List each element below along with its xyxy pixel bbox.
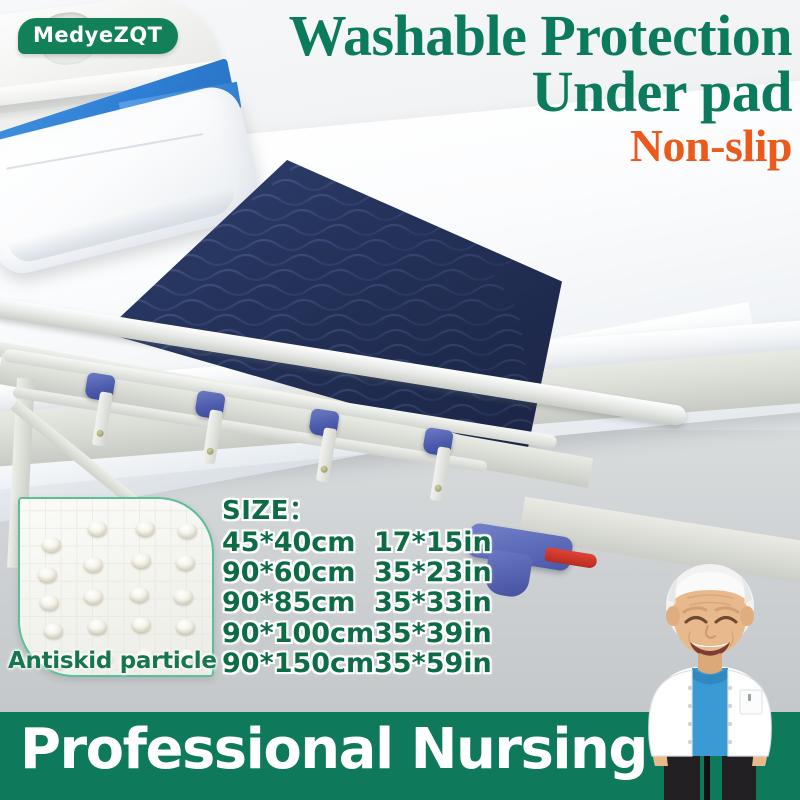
headline-block: Washable Protection Under pad Non-slip [192,8,792,170]
size-row: 90*150cm 35*59in [222,649,494,679]
size-in: 17*15in [374,528,494,558]
size-cm: 90*60cm [222,558,374,588]
product-poster: MedyeZQT Washable Protection Under pad N… [0,0,800,800]
size-row: 90*85cm 35*33in [222,588,494,618]
antiskid-particle-label: Antiskid particle [8,648,218,674]
size-cm: 45*40cm [222,528,374,558]
size-cm: 90*150cm [222,649,374,679]
brand-logo[interactable]: MedyeZQT [18,18,178,54]
size-list: SIZE： 45*40cm 17*15in 90*60cm 35*23in 90… [222,490,494,679]
size-row: 45*40cm 17*15in [222,528,494,558]
size-cm: 90*100cm [222,619,374,649]
size-in: 35*33in [374,588,494,618]
size-list-title: SIZE： [222,490,494,527]
size-in: 35*23in [374,558,494,588]
elderly-man-illustration [612,548,800,800]
headline-line-3-nonslip: Non-slip [192,121,792,171]
bottom-banner-text: Professional Nursing [20,716,647,783]
size-cm: 90*85cm [222,588,374,618]
size-row: 90*100cm 35*39in [222,619,494,649]
headline-line-1: Washable Protection [192,8,792,64]
size-in: 35*59in [374,649,494,679]
headline-line-2: Under pad [192,64,792,120]
size-in: 35*39in [374,619,494,649]
size-row: 90*60cm 35*23in [222,558,494,588]
